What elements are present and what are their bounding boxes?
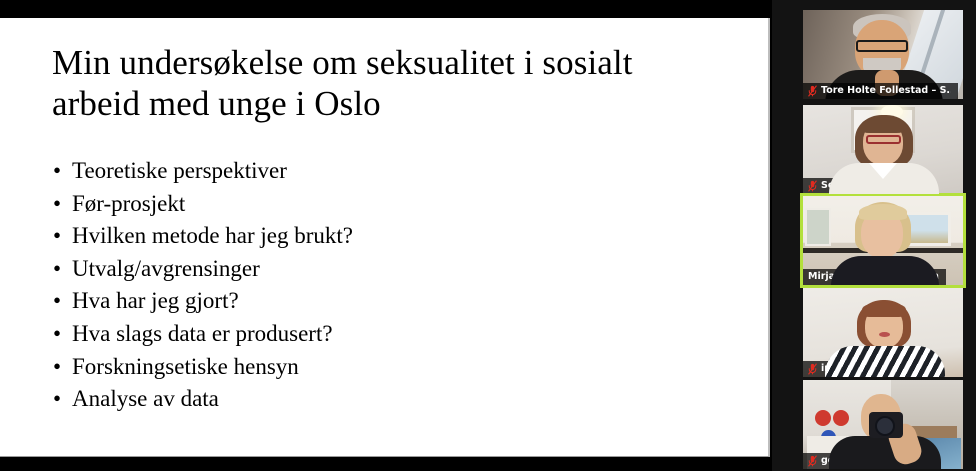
bullet-marker-icon: • [53, 383, 61, 416]
microphone-muted-icon [808, 363, 817, 375]
bullet-marker-icon: • [53, 351, 61, 384]
microphone-muted-icon [808, 85, 817, 97]
slide-bullet-item: •Utvalg/avgrensinger [52, 253, 744, 286]
slide-bullet-item: •Før-prosjekt [52, 188, 744, 221]
bullet-marker-icon: • [53, 285, 61, 318]
slide-content: Min undersøkelse om seksualitet i sosial… [52, 42, 744, 416]
slide-bullet-list: •Teoretiske perspektiver•Før-prosjekt•Hv… [52, 155, 744, 416]
slide-bullet-item: •Analyse av data [52, 383, 744, 416]
bullet-marker-icon: • [53, 318, 61, 351]
microphone-muted-icon [808, 180, 817, 192]
slide-bullet-text: Hvilken metode har jeg brukt? [72, 223, 353, 248]
slide-title: Min undersøkelse om seksualitet i sosial… [52, 42, 672, 124]
video-meeting-window: Min undersøkelse om seksualitet i sosial… [0, 0, 976, 471]
bullet-marker-icon: • [53, 253, 61, 286]
participant-video [803, 288, 963, 377]
slide-bullet-item: •Teoretiske perspektiver [52, 155, 744, 188]
slide-bullet-text: Hva har jeg gjort? [72, 288, 239, 313]
bullet-marker-icon: • [53, 155, 61, 188]
slide-bullet-text: Teoretiske perspektiver [72, 158, 287, 183]
slide-bullet-item: •Forskningsetiske hensyn [52, 351, 744, 384]
slide-bullet-text: Forskningsetiske hensyn [72, 354, 299, 379]
slide-bullet-item: •Hva har jeg gjort? [52, 285, 744, 318]
presentation-slide[interactable]: Min undersøkelse om seksualitet i sosial… [0, 18, 770, 457]
bullet-marker-icon: • [53, 188, 61, 221]
participant-tile-active-speaker[interactable]: Mirjam Berge Gregersen [803, 196, 963, 285]
participant-tile[interactable]: gosken [803, 380, 963, 469]
participant-tile[interactable]: ingvillholmfjaer [803, 288, 963, 377]
shared-screen-pane[interactable]: Min undersøkelse om seksualitet i sosial… [0, 0, 772, 471]
participant-name: Tore Holte Follestad – S... [821, 85, 951, 97]
slide-bullet-text: Analyse av data [72, 386, 219, 411]
participant-name-badge: Tore Holte Follestad – S... [803, 83, 958, 99]
participant-tile[interactable]: Tore Holte Follestad – S... [803, 10, 963, 99]
webcam-scene [803, 288, 963, 377]
bullet-marker-icon: • [53, 220, 61, 253]
participant-tile[interactable]: Sex og samfunn [803, 105, 963, 194]
slide-bullet-text: Hva slags data er produsert? [72, 321, 333, 346]
slide-bullet-text: Utvalg/avgrensinger [72, 256, 260, 281]
slide-bullet-text: Før-prosjekt [72, 191, 185, 216]
slide-bullet-item: •Hvilken metode har jeg brukt? [52, 220, 744, 253]
microphone-muted-icon [808, 455, 817, 467]
participant-filmstrip[interactable]: Tore Holte Follestad – S... Sex og samfu [772, 0, 976, 471]
slide-bullet-item: •Hva slags data er produsert? [52, 318, 744, 351]
